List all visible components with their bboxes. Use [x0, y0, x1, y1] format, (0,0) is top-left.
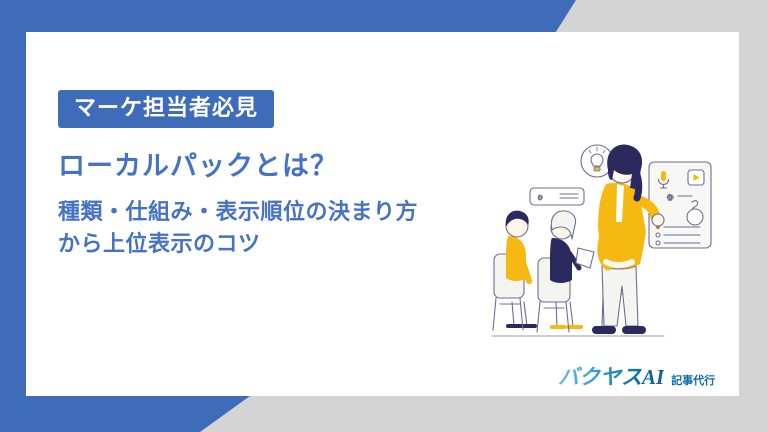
page-subtitle: 種類・仕組み・表示順位の決まり方 から上位表示のコツ	[58, 196, 488, 260]
thumbnail-canvas: マーケ担当者必見 ローカルパックとは？ 種類・仕組み・表示順位の決まり方 から上…	[0, 0, 768, 432]
decor-band-top	[0, 0, 576, 32]
play-button-icon	[688, 170, 704, 185]
eyebrow-badge: マーケ担当者必見	[58, 90, 274, 128]
seated-person-left	[493, 211, 535, 330]
seated-person-right	[537, 211, 594, 332]
logo-service-text: 記事代行	[671, 372, 715, 388]
whiteboard-presentation-illustration	[486, 126, 736, 348]
decor-band-bottom	[0, 396, 250, 432]
subtitle-line-2: から上位表示のコツ	[58, 228, 488, 260]
decor-band-left	[0, 0, 26, 432]
page-title: ローカルパックとは？	[58, 150, 488, 184]
brand-logo: バクヤスAI 記事代行	[558, 361, 715, 391]
text-card-bubble	[530, 188, 584, 205]
logo-brand-text: バクヤスAI	[558, 361, 664, 391]
subtitle-line-1: 種類・仕組み・表示順位の決まり方	[58, 196, 488, 228]
text-block: マーケ担当者必見 ローカルパックとは？ 種類・仕組み・表示順位の決まり方 から上…	[58, 90, 488, 260]
whiteboard-panel	[649, 162, 711, 248]
